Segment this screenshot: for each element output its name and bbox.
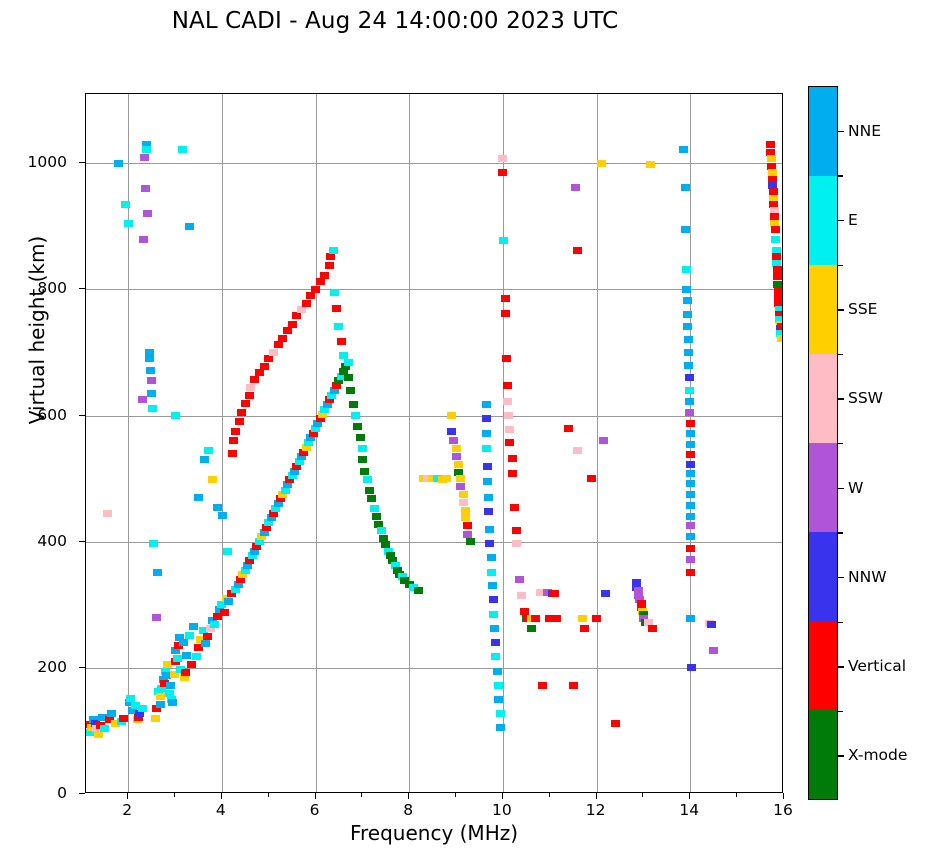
x-axis-label: Frequency (MHz) [85, 821, 783, 845]
data-point [224, 598, 233, 605]
data-point [686, 533, 695, 540]
data-point [274, 341, 283, 348]
data-point [143, 210, 152, 217]
data-point [498, 169, 507, 176]
x-tick-label: 16 [773, 801, 793, 819]
data-point [683, 297, 692, 304]
x-tick-minor [455, 793, 456, 797]
data-point [452, 445, 461, 452]
data-point [685, 398, 694, 405]
colorbar-boundary-tick [838, 532, 843, 533]
data-point [682, 286, 691, 293]
data-point [204, 447, 213, 454]
data-point [452, 453, 461, 460]
colorbar-tick [838, 220, 844, 221]
data-point [777, 335, 783, 342]
data-point [686, 569, 695, 576]
data-point [213, 504, 222, 511]
data-point [288, 321, 297, 328]
data-point [151, 715, 160, 722]
data-point [515, 576, 524, 583]
colorbar-tick [838, 309, 844, 310]
y-tick [79, 162, 85, 163]
data-point [685, 387, 694, 394]
data-point [503, 382, 512, 389]
data-point [569, 682, 578, 689]
data-point [771, 236, 780, 243]
data-point [686, 491, 695, 498]
data-point [228, 450, 237, 457]
data-point [269, 349, 278, 356]
data-point [531, 615, 540, 622]
data-point [231, 428, 240, 435]
y-tick-label: 0 [57, 784, 67, 802]
data-point [611, 720, 620, 727]
data-point [485, 526, 494, 533]
data-point [466, 538, 475, 545]
data-point [255, 369, 264, 376]
data-point [592, 615, 601, 622]
x-tick [596, 793, 597, 799]
data-point [510, 504, 519, 511]
data-point [485, 540, 494, 547]
data-point [200, 456, 209, 463]
data-point [220, 609, 229, 616]
data-point [487, 554, 496, 561]
data-point [245, 392, 254, 399]
data-point [141, 185, 150, 192]
data-point [564, 425, 573, 432]
colorbar-boundary-tick [838, 443, 843, 444]
data-point [538, 682, 547, 689]
data-point [138, 396, 147, 403]
ionogram-figure: NAL CADI - Aug 24 14:00:00 2023 UTC 2468… [0, 0, 951, 856]
data-point [360, 468, 369, 475]
y-axis-label: Virtual height (km) [25, 205, 49, 455]
x-tick-minor [642, 793, 643, 797]
data-point [686, 441, 695, 448]
data-point [351, 412, 360, 419]
data-point [187, 661, 196, 668]
colorbar-label-nnw: NNW [848, 568, 887, 586]
data-point [482, 415, 491, 422]
data-point [686, 451, 695, 458]
data-point [189, 623, 198, 630]
data-point [682, 266, 691, 273]
data-point [147, 390, 156, 397]
data-point [147, 377, 156, 384]
data-point [306, 292, 315, 299]
data-point [550, 590, 559, 597]
data-point [194, 494, 203, 501]
colorbar-segment-nnw[interactable] [809, 532, 837, 621]
data-point [491, 639, 500, 646]
data-point [185, 632, 194, 639]
x-tick-minor [268, 793, 269, 797]
x-tick-label: 12 [586, 801, 606, 819]
colorbar-label-x-mode: X-mode [848, 746, 907, 764]
data-point [487, 569, 496, 576]
x-tick-minor [174, 793, 175, 797]
x-tick [783, 793, 784, 799]
colorbar-label-nne: NNE [848, 122, 881, 140]
y-tick [79, 541, 85, 542]
data-point [482, 401, 491, 408]
plot-area[interactable] [85, 93, 783, 793]
data-point [501, 310, 510, 317]
data-point [192, 653, 201, 660]
x-tick-label: 4 [216, 801, 226, 819]
data-point [773, 273, 782, 280]
data-point [499, 237, 508, 244]
data-point [171, 412, 180, 419]
data-point [573, 247, 582, 254]
data-point [527, 625, 536, 632]
colorbar-tick [838, 488, 844, 489]
data-point [456, 483, 465, 490]
data-point [683, 311, 692, 318]
colorbar-boundary-tick [838, 711, 843, 712]
data-point [365, 487, 374, 494]
colorbar-tick [838, 398, 844, 399]
data-point [498, 155, 507, 162]
x-tick-minor [549, 793, 550, 797]
data-point [311, 286, 320, 293]
data-point [494, 682, 503, 689]
data-point [681, 184, 690, 191]
data-point [139, 236, 148, 243]
data-point [482, 430, 491, 437]
data-point [156, 701, 165, 708]
data-point [771, 226, 780, 233]
page-title: NAL CADI - Aug 24 14:00:00 2023 UTC [0, 8, 790, 34]
colorbar-label-vertical: Vertical [848, 657, 906, 675]
x-tick [127, 793, 128, 799]
data-point [587, 475, 596, 482]
data-point [329, 247, 338, 254]
data-point [684, 349, 693, 356]
colorbar-segment-e[interactable] [809, 176, 837, 265]
data-point [178, 146, 187, 153]
data-point [707, 621, 716, 628]
data-point [229, 437, 238, 444]
data-point [681, 226, 690, 233]
data-point [483, 463, 492, 470]
data-point [463, 531, 472, 538]
data-point [773, 266, 782, 273]
data-point [490, 625, 499, 632]
data-point [580, 625, 589, 632]
data-point [648, 625, 657, 632]
data-point [168, 699, 177, 706]
data-point [512, 527, 521, 534]
y-tick [79, 288, 85, 289]
data-point [461, 514, 470, 521]
data-point [146, 367, 155, 374]
data-point [179, 639, 188, 646]
data-point [302, 300, 311, 307]
x-tick-minor [736, 793, 737, 797]
data-point [505, 439, 514, 446]
data-point [142, 146, 151, 153]
colorbar-label-w: W [848, 479, 863, 497]
data-point [442, 475, 451, 482]
data-point [601, 590, 610, 597]
data-point [573, 447, 582, 454]
data-point [140, 154, 149, 161]
x-tick [315, 793, 316, 799]
data-point [684, 362, 693, 369]
data-point [330, 289, 339, 296]
y-tick-label: 1000 [28, 153, 67, 171]
data-point [508, 455, 517, 462]
data-point [459, 491, 468, 498]
colorbar-boundary-tick [838, 175, 843, 176]
colorbar-boundary-tick [838, 265, 843, 266]
data-point [482, 445, 491, 452]
data-point [356, 434, 365, 441]
data-point [686, 470, 695, 477]
colorbar-label-ssw: SSW [848, 389, 883, 407]
colorbar-tick [838, 666, 844, 667]
data-point [686, 522, 695, 529]
colorbar[interactable] [808, 86, 838, 800]
data-point [686, 545, 695, 552]
data-point [107, 710, 116, 717]
data-point [683, 323, 692, 330]
data-point [145, 355, 154, 362]
data-point [491, 653, 500, 660]
data-point [777, 323, 783, 330]
data-point [332, 305, 341, 312]
data-point [346, 387, 355, 394]
data-point [320, 272, 329, 279]
data-point [503, 398, 512, 405]
data-point [489, 611, 498, 618]
colorbar-segment-sse[interactable] [809, 265, 837, 354]
data-point [489, 596, 498, 603]
data-point [484, 494, 493, 501]
data-point [237, 409, 246, 416]
colorbar-boundary-tick [838, 354, 843, 355]
data-point [103, 510, 112, 517]
data-point [326, 253, 335, 260]
data-point [686, 420, 695, 427]
data-point [114, 160, 123, 167]
data-point [223, 548, 232, 555]
x-tick-label: 6 [310, 801, 320, 819]
data-point [278, 335, 287, 342]
data-point [353, 423, 362, 430]
data-point [138, 705, 147, 712]
colorbar-boundary-tick [838, 622, 843, 623]
colorbar-segment-ssw[interactable] [809, 354, 837, 443]
data-point [203, 633, 212, 640]
data-point [679, 146, 688, 153]
data-point [166, 682, 175, 689]
data-point [597, 160, 606, 167]
data-point [337, 338, 346, 345]
x-tick-label: 8 [403, 801, 413, 819]
x-tick [502, 793, 503, 799]
data-point [372, 513, 381, 520]
data-point [505, 426, 514, 433]
y-tick-label: 400 [37, 532, 67, 550]
data-point [494, 696, 503, 703]
data-point [152, 614, 161, 621]
data-point [292, 312, 301, 319]
data-point [325, 262, 334, 269]
data-point [686, 430, 695, 437]
data-point [512, 540, 521, 547]
data-point [148, 405, 157, 412]
data-point [502, 355, 511, 362]
data-point [520, 608, 529, 615]
data-point [260, 363, 269, 370]
colorbar-tick [838, 755, 844, 756]
data-point [508, 470, 517, 477]
data-point [459, 499, 468, 506]
data-point [501, 295, 510, 302]
data-point [264, 355, 273, 362]
x-tick-label: 2 [122, 801, 132, 819]
data-point [684, 336, 693, 343]
data-point [149, 540, 158, 547]
data-point [283, 327, 292, 334]
data-point [599, 437, 608, 444]
colorbar-segment-x-mode[interactable] [809, 710, 837, 799]
x-tick-label: 10 [492, 801, 512, 819]
colorbar-segment-nne[interactable] [809, 87, 837, 176]
data-point [447, 412, 456, 419]
data-point [463, 522, 472, 529]
colorbar-segment-w[interactable] [809, 443, 837, 532]
data-points-layer [86, 94, 782, 792]
data-point [377, 527, 386, 534]
data-point [504, 412, 513, 419]
data-point [334, 323, 343, 330]
data-point [517, 592, 526, 599]
data-point [447, 428, 456, 435]
data-point [685, 409, 694, 416]
data-point [297, 306, 306, 313]
x-tick [408, 793, 409, 799]
data-point [766, 141, 775, 148]
data-point [449, 437, 458, 444]
data-point [182, 652, 191, 659]
x-tick-label: 14 [679, 801, 699, 819]
data-point [201, 640, 210, 647]
data-point [235, 418, 244, 425]
data-point [250, 376, 259, 383]
data-point [153, 569, 162, 576]
data-point [646, 161, 655, 168]
x-tick-minor [361, 793, 362, 797]
data-point [709, 647, 718, 654]
data-point [246, 384, 255, 391]
data-point [124, 220, 133, 227]
colorbar-tick [838, 577, 844, 578]
data-point [367, 495, 376, 502]
data-point [552, 615, 561, 622]
data-point [578, 615, 587, 622]
data-point [686, 513, 695, 520]
data-point [100, 725, 109, 732]
data-point [185, 223, 194, 230]
y-tick [79, 793, 85, 794]
data-point [488, 582, 497, 589]
colorbar-label-e: E [848, 211, 858, 229]
data-point [119, 715, 128, 722]
data-point [358, 456, 367, 463]
colorbar-segment-vertical[interactable] [809, 621, 837, 710]
data-point [370, 505, 379, 512]
data-point [181, 669, 190, 676]
data-point [218, 512, 227, 519]
y-tick-label: 200 [37, 658, 67, 676]
data-point [686, 556, 695, 563]
data-point [461, 507, 470, 514]
data-point [493, 668, 502, 675]
data-point [316, 278, 325, 285]
data-point [349, 401, 358, 408]
data-point [686, 502, 695, 509]
data-point [344, 374, 353, 381]
data-point [344, 359, 353, 366]
data-point [686, 461, 695, 468]
data-point [241, 400, 250, 407]
data-point [686, 480, 695, 487]
y-tick [79, 415, 85, 416]
data-point [685, 374, 694, 381]
data-point [363, 476, 372, 483]
x-tick [689, 793, 690, 799]
data-point [210, 621, 219, 628]
data-point [456, 475, 465, 482]
data-point [687, 664, 696, 671]
colorbar-label-sse: SSE [848, 300, 877, 318]
data-point [208, 476, 217, 483]
data-point [454, 461, 463, 468]
data-point [126, 695, 135, 702]
data-point [358, 445, 367, 452]
data-point [414, 587, 423, 594]
data-point [767, 155, 776, 162]
colorbar-tick [838, 131, 844, 132]
data-point [496, 710, 505, 717]
data-point [483, 478, 492, 485]
data-point [496, 724, 505, 731]
data-point [484, 508, 493, 515]
data-point [173, 655, 182, 662]
data-point [686, 615, 695, 622]
data-point [571, 184, 580, 191]
y-tick [79, 667, 85, 668]
x-tick [221, 793, 222, 799]
data-point [121, 201, 130, 208]
